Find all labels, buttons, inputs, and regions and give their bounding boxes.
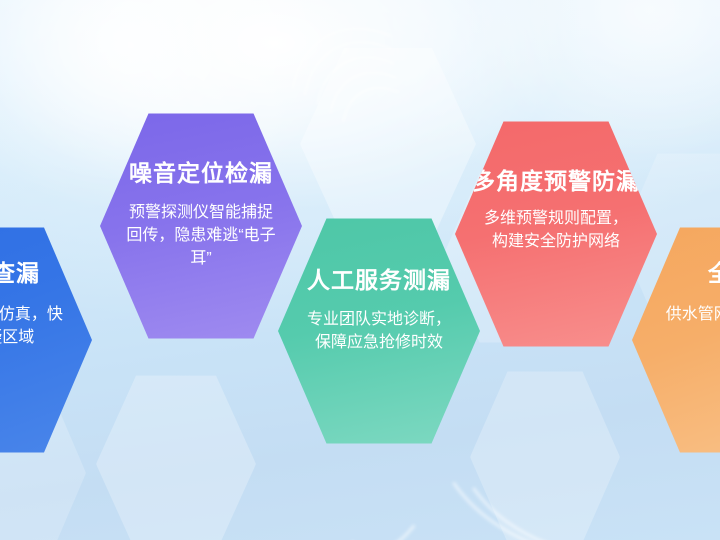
hexagon-card-title: 多级查漏 xyxy=(0,260,40,286)
hexagon-card-duoji-chalou[interactable]: 多级查漏 区计量+水 仿真，快速 可疑区域 xyxy=(0,224,92,456)
hexagon-card-duojiaodu-yujing-fanglou[interactable]: 多角度预警防漏 多维预警规则配置，构建安全防护网络 xyxy=(455,118,657,350)
ghost-hexagon xyxy=(300,44,476,244)
hexagon-card-title: 噪音定位检漏 xyxy=(129,160,273,186)
hexagon-card-description: 多维预警规则配置，构建安全防护网络 xyxy=(478,208,634,253)
infographic-slide: 多级查漏 区计量+水 仿真，快速 可疑区域 噪音定位检漏 预警探测仪智能捕捉回传… xyxy=(0,0,720,540)
hexagon-card-zaoyin-dingwei-jianlou[interactable]: 噪音定位检漏 预警探测仪智能捕捉回传，隐患难逃“电子耳” xyxy=(100,110,302,342)
ghost-hexagon xyxy=(470,368,620,540)
hexagon-card-rengong-fuwu-celou[interactable]: 人工服务测漏 专业团队实地诊断，保障应急抢修时效 xyxy=(278,215,480,447)
hexagon-card-title: 多角度预警防漏 xyxy=(472,168,640,194)
hexagon-card-description: 预警探测仪智能捕捉回传，隐患难逃“电子耳” xyxy=(124,202,278,270)
hexagon-card-description: 供水管网 理，漏损 xyxy=(656,304,720,327)
hexagon-card-title: 人工服务测漏 xyxy=(307,267,451,293)
hexagon-card-description: 专业团队实地诊断，保障应急抢修时效 xyxy=(300,309,458,354)
hexagon-card-title: 全流 xyxy=(708,260,720,286)
hexagon-card-description: 区计量+水 仿真，快速 可疑区域 xyxy=(0,304,68,349)
ghost-hexagon xyxy=(96,372,256,540)
